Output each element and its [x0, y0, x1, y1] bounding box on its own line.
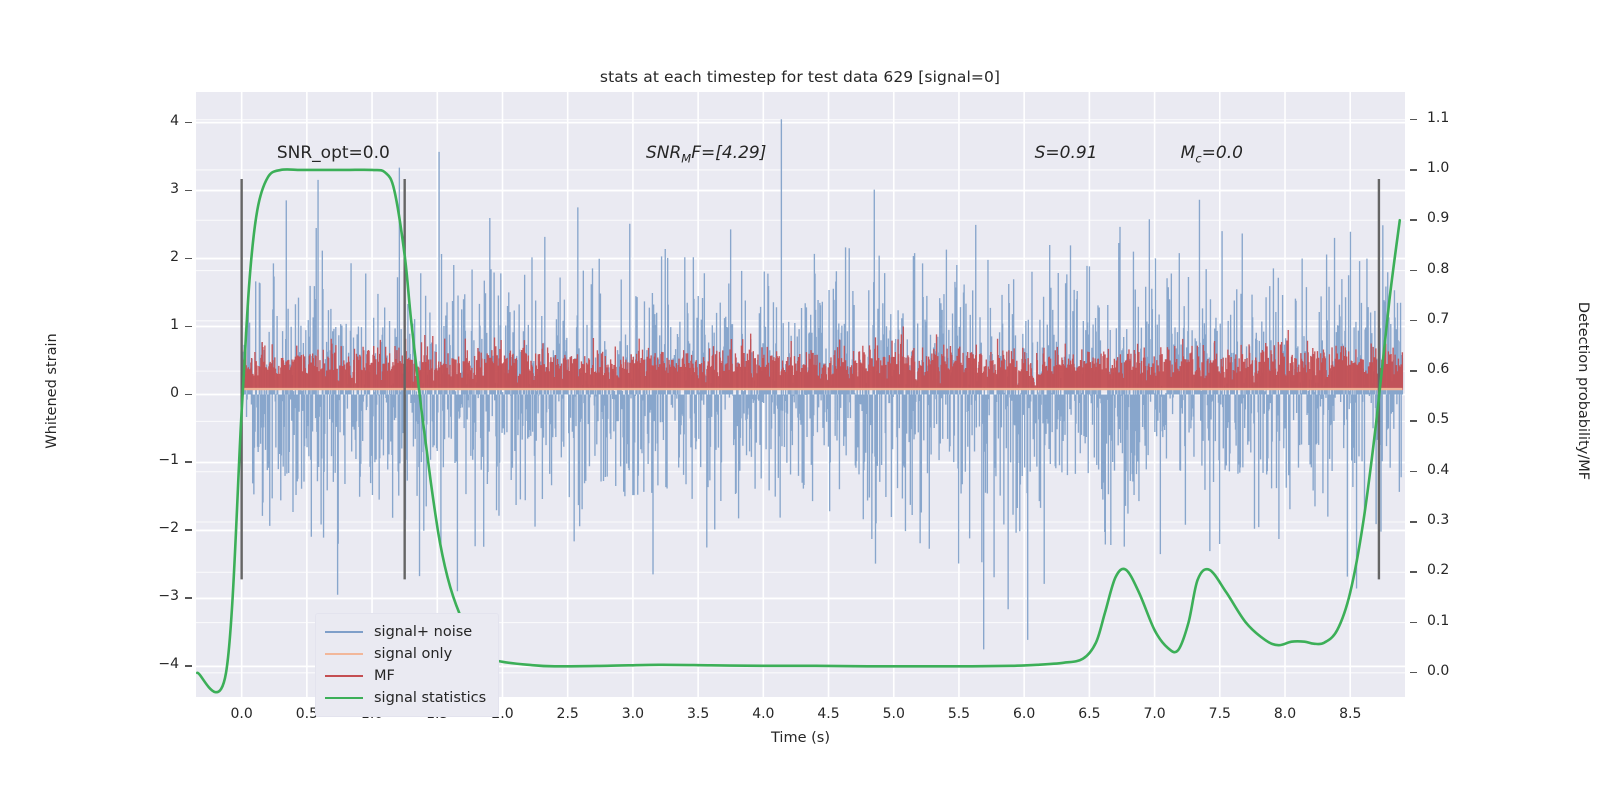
legend: signal+ noisesignal onlyMFsignal statist…	[315, 613, 499, 717]
y-axis-label-right: Detection probability/MF	[1575, 271, 1591, 511]
y-left-tick-label: 4	[170, 113, 179, 129]
tick-mark	[1410, 270, 1417, 272]
y-left-tick-label: 3	[170, 181, 179, 197]
legend-item-mf[interactable]: MF	[325, 665, 486, 687]
annotation-mc-stat: Mc=0.0	[1181, 143, 1243, 165]
legend-label: signal only	[374, 646, 452, 662]
tick-mark	[1410, 521, 1417, 523]
x-tick-label: 3.5	[687, 706, 709, 722]
tick-mark	[1410, 571, 1417, 573]
y-right-tick-label: 0.9	[1427, 210, 1449, 226]
plot-svg	[196, 92, 1405, 697]
tick-mark	[1410, 169, 1417, 171]
tick-mark	[1410, 420, 1417, 422]
y-left-tick-label: −2	[158, 520, 179, 536]
legend-label: signal+ noise	[374, 624, 472, 640]
legend-item-signal-statistics[interactable]: signal statistics	[325, 687, 486, 709]
tick-mark	[185, 394, 192, 396]
tick-mark	[185, 190, 192, 192]
tick-mark	[185, 597, 192, 599]
tick-mark	[185, 529, 192, 531]
x-axis-label: Time (s)	[196, 730, 1405, 746]
x-tick-label: 3.0	[622, 706, 644, 722]
figure-canvas: stats at each timestep for test data 629…	[0, 0, 1600, 800]
y-right-tick-label: 0.6	[1427, 361, 1449, 377]
y-left-tick-label: 1	[170, 317, 179, 333]
x-tick-label: 0.0	[231, 706, 253, 722]
annotation-snr-mf: SNRMF=[4.29]	[646, 143, 766, 165]
y-right-tick-label: 1.0	[1427, 160, 1449, 176]
y-right-tick-label: 0.3	[1427, 512, 1449, 528]
x-tick-label: 7.0	[1143, 706, 1165, 722]
tick-mark	[1410, 471, 1417, 473]
y-left-tick-label: −3	[158, 588, 179, 604]
tick-mark	[185, 665, 192, 667]
tick-mark	[185, 461, 192, 463]
y-right-tick-label: 1.1	[1427, 110, 1449, 126]
legend-swatch-icon	[325, 675, 363, 677]
tick-mark	[1410, 622, 1417, 624]
y-right-tick-label: 0.8	[1427, 261, 1449, 277]
chart-title: stats at each timestep for test data 629…	[0, 68, 1600, 86]
x-tick-label: 8.0	[1274, 706, 1296, 722]
legend-label: MF	[374, 668, 395, 684]
tick-mark	[185, 258, 192, 260]
y-left-tick-label: −1	[158, 452, 179, 468]
x-tick-label: 6.5	[1078, 706, 1100, 722]
y-left-tick-label: 2	[170, 249, 179, 265]
tick-mark	[1410, 672, 1417, 674]
annotation-s-stat: S=0.91	[1035, 143, 1098, 163]
y-right-tick-label: 0.7	[1427, 311, 1449, 327]
legend-item-signal-only[interactable]: signal only	[325, 643, 486, 665]
y-left-tick-label: 0	[170, 385, 179, 401]
x-tick-label: 5.0	[883, 706, 905, 722]
tick-mark	[1410, 119, 1417, 121]
legend-label: signal statistics	[374, 690, 486, 706]
tick-mark	[185, 122, 192, 124]
x-tick-label: 8.5	[1339, 706, 1361, 722]
x-tick-label: 6.0	[1013, 706, 1035, 722]
legend-swatch-icon	[325, 697, 363, 699]
y-right-tick-label: 0.0	[1427, 663, 1449, 679]
legend-swatch-icon	[325, 653, 363, 655]
x-tick-label: 7.5	[1209, 706, 1231, 722]
y-right-tick-label: 0.5	[1427, 411, 1449, 427]
y-right-tick-label: 0.4	[1427, 462, 1449, 478]
y-right-tick-label: 0.1	[1427, 613, 1449, 629]
legend-item-signal-noise[interactable]: signal+ noise	[325, 621, 486, 643]
y-axis-label-left: Whitened strain	[44, 291, 60, 491]
tick-mark	[1410, 370, 1417, 372]
x-tick-label: 4.0	[752, 706, 774, 722]
tick-mark	[1410, 219, 1417, 221]
annotation-snr-opt: SNR_opt=0.0	[277, 143, 390, 163]
y-right-tick-label: 0.2	[1427, 562, 1449, 578]
tick-mark	[1410, 320, 1417, 322]
tick-mark	[185, 326, 192, 328]
x-tick-label: 4.5	[817, 706, 839, 722]
x-tick-label: 2.5	[557, 706, 579, 722]
x-tick-label: 5.5	[948, 706, 970, 722]
plot-area	[196, 92, 1405, 697]
legend-swatch-icon	[325, 631, 363, 633]
y-left-tick-label: −4	[158, 656, 179, 672]
